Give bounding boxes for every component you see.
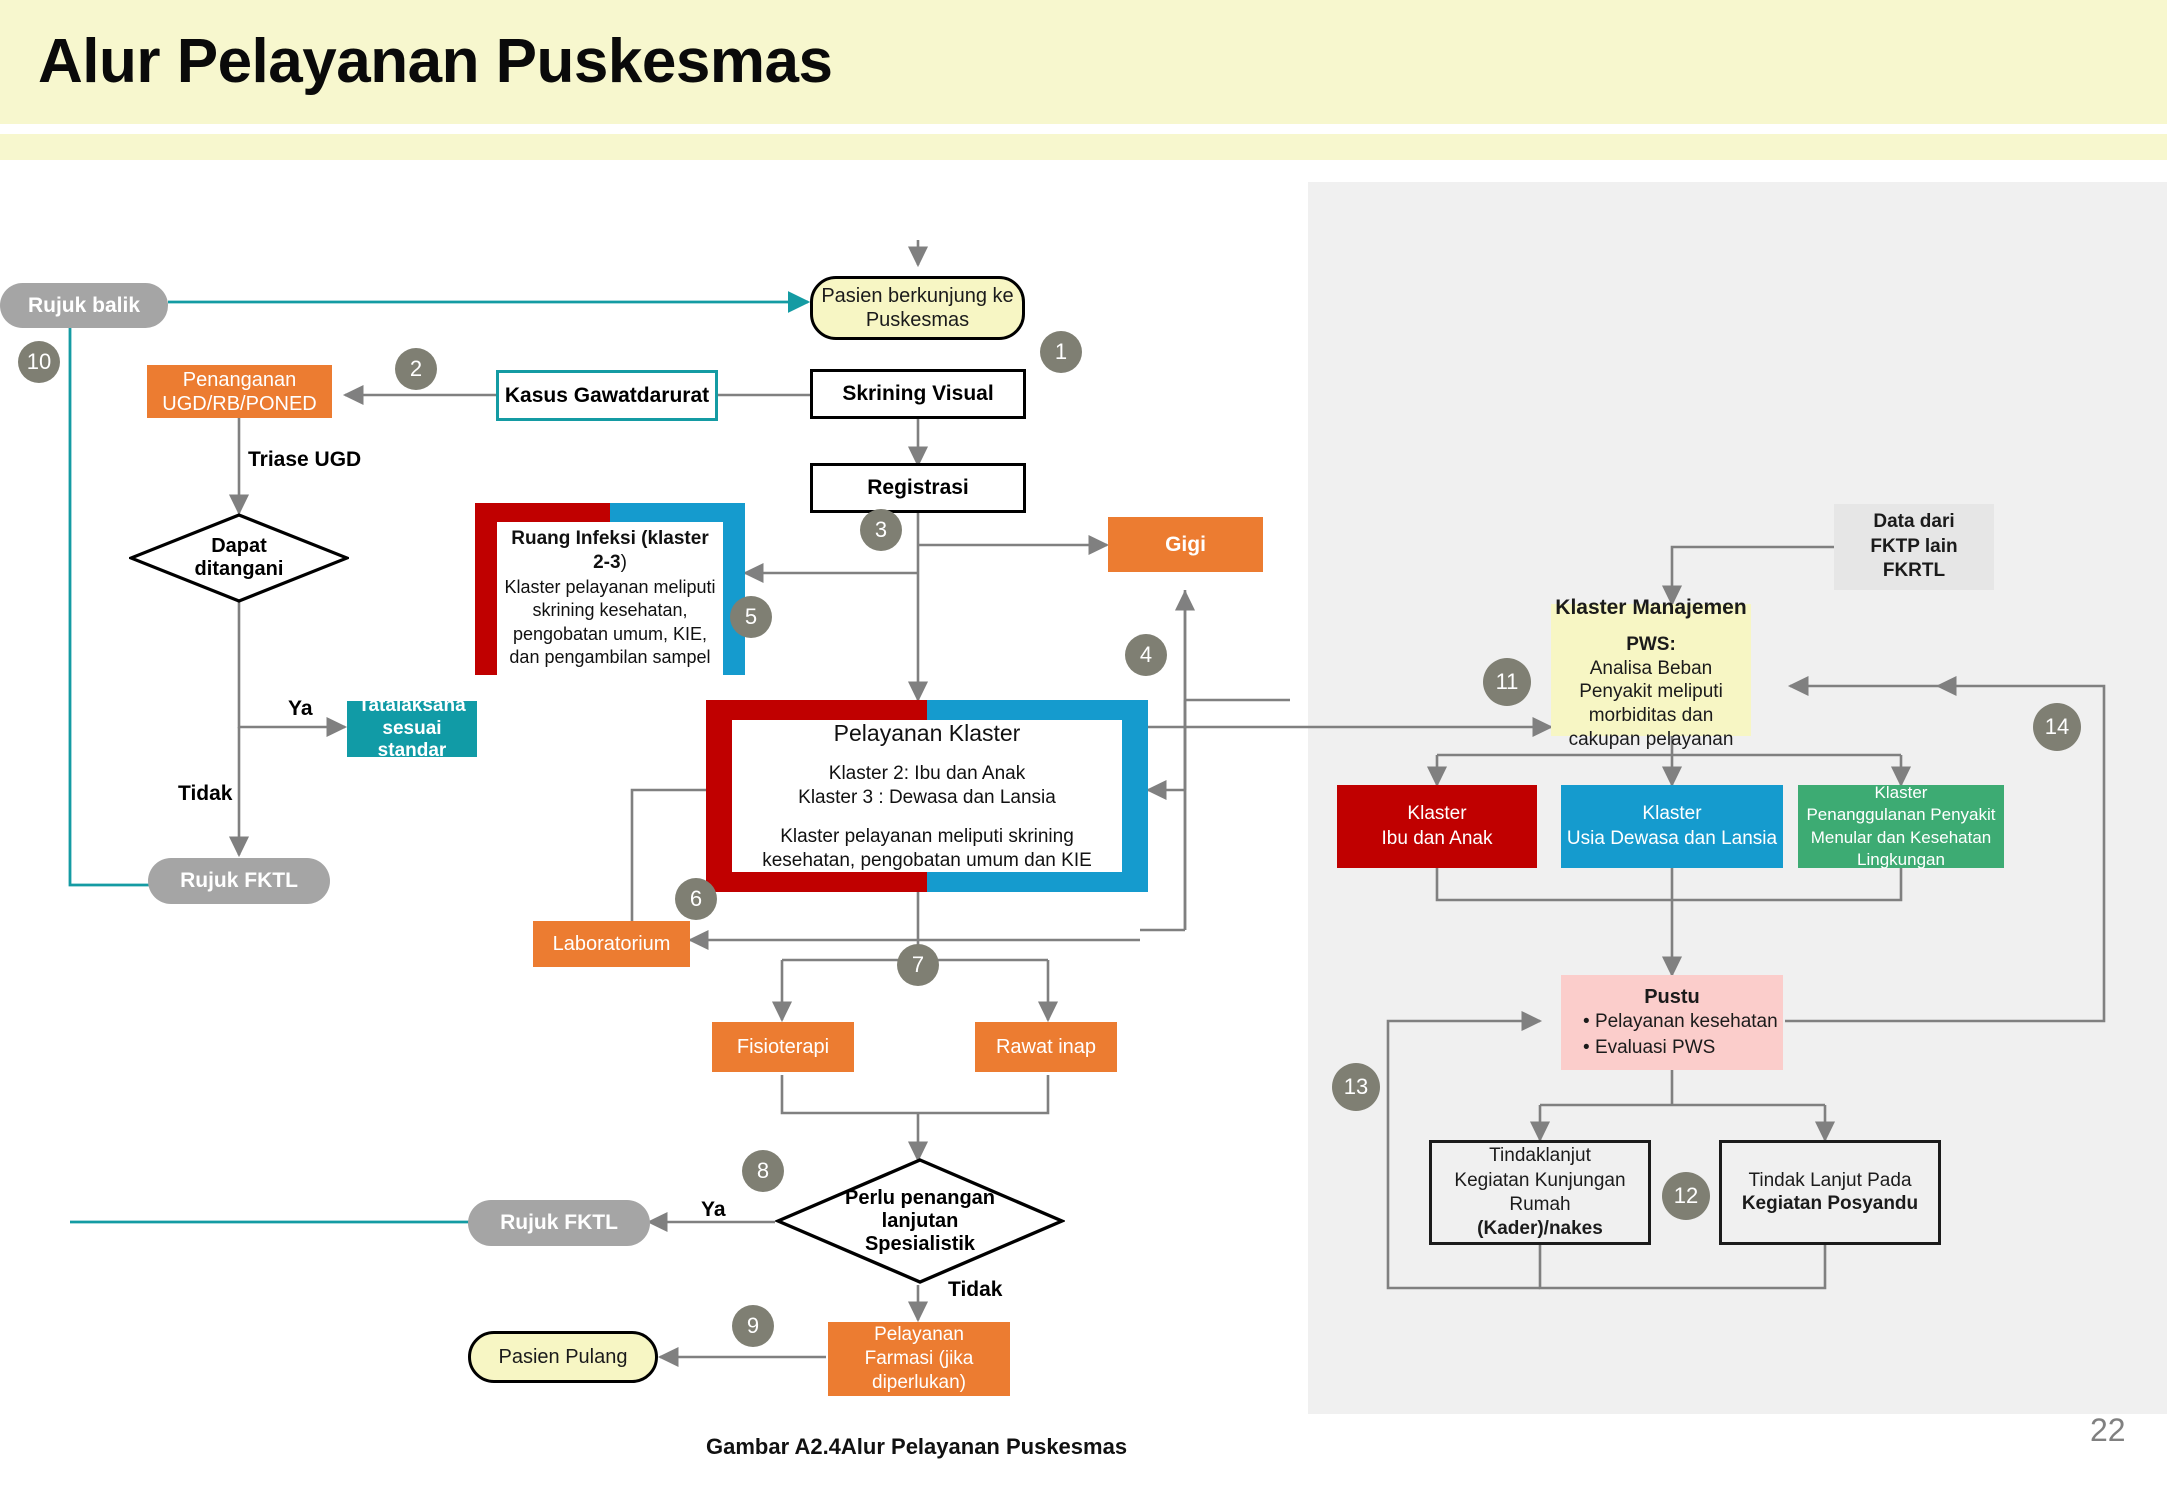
node-pasien-berkunjung-label: Pasien berkunjung ke Puskesmas	[813, 284, 1022, 332]
badge-9[interactable]: 9	[732, 1305, 774, 1347]
node-rawat-inap[interactable]: Rawat inap	[975, 1022, 1117, 1072]
edge-label-tidak-1: Tidak	[178, 782, 232, 806]
node-gigi-label: Gigi	[1108, 532, 1263, 557]
node-tindak-lanjut-posyandu[interactable]: Tindak Lanjut Pada Kegiatan Posyandu	[1719, 1140, 1941, 1245]
badge-3[interactable]: 3	[860, 509, 902, 551]
node-rujuk-balik-label: Rujuk balik	[0, 293, 168, 318]
node-rujuk-fktl-2[interactable]: Rujuk FKTL	[468, 1200, 650, 1246]
pelayanan-klaster-line1: Klaster 2: Ibu dan Anak	[829, 762, 1025, 786]
node-pasien-pulang-label: Pasien Pulang	[471, 1345, 655, 1369]
node-rawat-inap-label: Rawat inap	[975, 1035, 1117, 1059]
node-laboratorium-label: Laboratorium	[533, 932, 690, 956]
badge-6[interactable]: 6	[675, 878, 717, 920]
node-gigi[interactable]: Gigi	[1108, 517, 1263, 572]
pelayanan-klaster-line2: Klaster 3 : Dewasa dan Lansia	[798, 786, 1056, 810]
edge-label-triase-ugd: Triase UGD	[248, 448, 361, 472]
node-klaster-penyakit-menular[interactable]: Klaster Penanggulanan Penyakit Menular d…	[1798, 785, 2004, 868]
node-pelayanan-klaster[interactable]: Pelayanan Klaster Klaster 2: Ibu dan Ana…	[706, 700, 1148, 892]
node-ruang-infeksi[interactable]: Ruang Infeksi (klaster 2-3) Klaster pela…	[475, 503, 745, 675]
node-skrining-visual[interactable]: Skrining Visual	[810, 369, 1026, 419]
node-penanganan-ugd-label: Penanganan UGD/RB/PONED	[147, 368, 332, 416]
badge-1[interactable]: 1	[1040, 331, 1082, 373]
node-klaster-ibu-anak-label: Klaster Ibu dan Anak	[1337, 802, 1537, 851]
ruang-infeksi-title-tail: )	[621, 552, 627, 573]
node-tindak-lanjut-posyandu-label-a: Tindak Lanjut Pada	[1748, 1170, 1911, 1193]
node-laboratorium[interactable]: Laboratorium	[533, 921, 690, 967]
node-tatalaksana-label: Tatalaksana sesuai standar	[347, 695, 477, 763]
node-fisioterapi[interactable]: Fisioterapi	[712, 1022, 854, 1072]
node-penanganan-ugd[interactable]: Penanganan UGD/RB/PONED	[147, 365, 332, 418]
badge-8[interactable]: 8	[742, 1150, 784, 1192]
node-klaster-manajemen-pws: PWS:	[1626, 634, 1676, 657]
pelayanan-klaster-title: Pelayanan Klaster	[834, 719, 1021, 748]
node-tindaklanjut-kunjungan-rumah-label: Tindaklanjut Kegiatan Kunjungan Rumah	[1454, 1144, 1625, 1218]
node-pasien-pulang[interactable]: Pasien Pulang	[468, 1331, 658, 1383]
edge-label-tidak-2: Tidak	[948, 1278, 1002, 1302]
node-data-fktp[interactable]: Data dari FKTP lain FKRTL	[1834, 504, 1994, 590]
badge-13[interactable]: 13	[1332, 1063, 1380, 1111]
node-klaster-dewasa-lansia-label: Klaster Usia Dewasa dan Lansia	[1561, 802, 1783, 851]
badge-10[interactable]: 10	[18, 341, 60, 383]
node-skrining-visual-label: Skrining Visual	[813, 381, 1023, 406]
node-registrasi[interactable]: Registrasi	[810, 463, 1026, 513]
node-rujuk-fktl-1-label: Rujuk FKTL	[148, 868, 330, 893]
node-registrasi-label: Registrasi	[813, 475, 1023, 500]
node-tindak-lanjut-posyandu-label-b: Kegiatan Posyandu	[1742, 1193, 1918, 1216]
node-pustu[interactable]: Pustu • Pelayanan kesehatan • Evaluasi P…	[1561, 975, 1783, 1070]
node-tindaklanjut-kunjungan-rumah-kader: (Kader)/nakes	[1477, 1218, 1603, 1241]
slide-canvas: Alur Pelayanan Puskesmas	[0, 0, 2167, 1500]
badge-7[interactable]: 7	[897, 944, 939, 986]
node-perlu-penangan-label: Perlu penangan lanjutan Spesialistik	[775, 1157, 1065, 1285]
node-kasus-gawatdarurat-label: Kasus Gawatdarurat	[499, 383, 715, 408]
node-pelayanan-farmasi-label: Pelayanan Farmasi (jika diperlukan)	[828, 1323, 1010, 1394]
badge-5[interactable]: 5	[730, 596, 772, 638]
node-klaster-ibu-anak[interactable]: Klaster Ibu dan Anak	[1337, 785, 1537, 868]
badge-12[interactable]: 12	[1662, 1172, 1710, 1220]
node-klaster-dewasa-lansia[interactable]: Klaster Usia Dewasa dan Lansia	[1561, 785, 1783, 868]
node-pasien-berkunjung[interactable]: Pasien berkunjung ke Puskesmas	[810, 276, 1025, 340]
node-klaster-manajemen[interactable]: Klaster Manajemen PWS: Analisa Beban Pen…	[1551, 604, 1751, 736]
ruang-infeksi-body: Klaster pelayanan meliputi skrining kese…	[501, 576, 719, 670]
edge-label-ya-2: Ya	[701, 1198, 726, 1222]
badge-2[interactable]: 2	[395, 348, 437, 390]
node-tatalaksana[interactable]: Tatalaksana sesuai standar	[347, 701, 477, 757]
edge-label-ya-1: Ya	[288, 697, 313, 721]
node-pustu-bullet-1: • Pelayanan kesehatan	[1583, 1009, 1783, 1035]
node-pelayanan-farmasi[interactable]: Pelayanan Farmasi (jika diperlukan)	[828, 1322, 1010, 1396]
ruang-infeksi-content: Ruang Infeksi (klaster 2-3) Klaster pela…	[497, 522, 723, 675]
node-dapat-ditangani[interactable]: Dapat ditangani	[129, 513, 349, 603]
node-data-fktp-label: Data dari FKTP lain FKRTL	[1834, 510, 1994, 584]
node-fisioterapi-label: Fisioterapi	[712, 1035, 854, 1059]
node-rujuk-fktl-2-label: Rujuk FKTL	[468, 1210, 650, 1235]
badge-4[interactable]: 4	[1125, 634, 1167, 676]
node-klaster-manajemen-title: Klaster Manajemen	[1555, 595, 1746, 620]
ruang-infeksi-title: Ruang Infeksi (klaster 2-3	[511, 528, 708, 573]
node-rujuk-balik[interactable]: Rujuk balik	[0, 283, 168, 328]
node-pustu-title: Pustu	[1561, 985, 1783, 1009]
pelayanan-klaster-line3: Klaster pelayanan meliputi skrining kese…	[732, 825, 1122, 873]
node-dapat-ditangani-label: Dapat ditangani	[129, 513, 349, 603]
node-klaster-manajemen-body: Analisa Beban Penyakit meliputi morbidit…	[1551, 657, 1751, 752]
node-perlu-penangan[interactable]: Perlu penangan lanjutan Spesialistik	[775, 1157, 1065, 1285]
badge-14[interactable]: 14	[2033, 703, 2081, 751]
node-rujuk-fktl-1[interactable]: Rujuk FKTL	[148, 858, 330, 904]
node-kasus-gawatdarurat[interactable]: Kasus Gawatdarurat	[496, 370, 718, 421]
node-klaster-penyakit-menular-label: Klaster Penanggulanan Penyakit Menular d…	[1798, 782, 2004, 870]
node-tindaklanjut-kunjungan-rumah[interactable]: Tindaklanjut Kegiatan Kunjungan Rumah (K…	[1429, 1140, 1651, 1245]
badge-11[interactable]: 11	[1483, 658, 1531, 706]
pelayanan-klaster-content: Pelayanan Klaster Klaster 2: Ibu dan Ana…	[732, 720, 1122, 872]
node-pustu-bullet-2: • Evaluasi PWS	[1583, 1035, 1783, 1061]
